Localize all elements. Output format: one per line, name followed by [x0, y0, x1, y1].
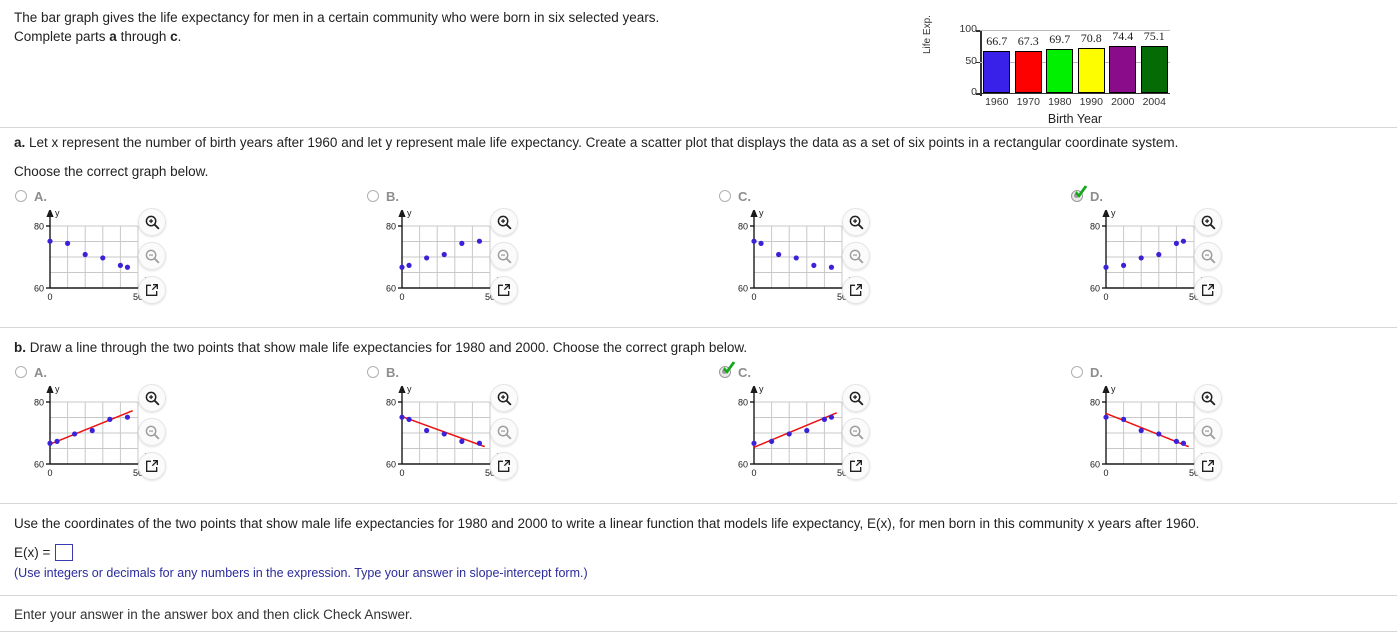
intro-text: The bar graph gives the life expectancy …: [14, 8, 894, 46]
bar-chart-x-tick: 1980: [1044, 96, 1076, 108]
expand-button[interactable]: [490, 276, 518, 304]
bar-chart-bars: 66.767.369.770.874.475.1: [981, 30, 1170, 93]
bar-chart-x-tick: 2004: [1139, 96, 1171, 108]
expand-button[interactable]: [490, 452, 518, 480]
option-radio-button[interactable]: [15, 190, 27, 202]
bar-chart-bar: [1109, 46, 1136, 93]
svg-text:y: y: [55, 386, 60, 394]
bar-chart-value-label: 70.8: [1081, 31, 1102, 46]
svg-text:y: y: [1111, 210, 1116, 218]
zoom-in-icon: [496, 214, 513, 231]
option-letter-label: A.: [34, 365, 47, 380]
option-letter-label: C.: [738, 365, 751, 380]
zoom-in-icon: [1200, 390, 1217, 407]
bar-chart-x-tick-labels: 196019701980199020002004: [981, 96, 1170, 108]
option-letter-label: D.: [1090, 189, 1103, 204]
bar-chart-x-axis-title: Birth Year: [980, 112, 1170, 126]
answer-note: (Use integers or decimals for any number…: [14, 566, 588, 580]
bar-chart-y-tick: 0: [971, 86, 977, 98]
svg-text:80: 80: [386, 222, 396, 232]
part-c-prompt: Use the coordinates of the two points th…: [14, 515, 1374, 532]
expand-icon: [144, 282, 160, 298]
svg-text:y: y: [407, 210, 412, 218]
zoom-in-icon: [144, 214, 161, 231]
answer-row: E(x) =: [14, 544, 73, 561]
zoom-out-icon: [1200, 424, 1217, 441]
part-b-option-a[interactable]: A.6080050yx: [10, 364, 355, 494]
life-expectancy-bar-chart: Life Exp. 050100 66.767.369.770.874.475.…: [928, 18, 1188, 130]
divider-3: [0, 503, 1397, 504]
bar-chart-bar-column: 67.3: [1013, 30, 1045, 93]
option-letter-label: C.: [738, 189, 751, 204]
svg-text:0: 0: [47, 292, 52, 302]
svg-text:80: 80: [1090, 222, 1100, 232]
part-a-option-d[interactable]: D.6080050yx: [1066, 188, 1397, 318]
option-header[interactable]: A.: [15, 188, 47, 204]
divider-2: [0, 327, 1397, 328]
zoom-out-button[interactable]: [1194, 242, 1222, 270]
answer-input[interactable]: [55, 544, 73, 561]
zoom-in-button[interactable]: [1194, 384, 1222, 412]
svg-text:0: 0: [399, 468, 404, 478]
option-radio-button[interactable]: [1071, 190, 1083, 202]
zoom-out-icon: [144, 248, 161, 265]
bar-chart-x-tick: 1970: [1013, 96, 1045, 108]
part-a-option-c[interactable]: C.6080050yx: [714, 188, 1059, 318]
bar-chart-bar: [1078, 48, 1105, 93]
option-radio-button[interactable]: [15, 366, 27, 378]
zoom-in-button[interactable]: [1194, 208, 1222, 236]
svg-text:80: 80: [738, 222, 748, 232]
zoom-in-button[interactable]: [490, 384, 518, 412]
bar-chart-bar-column: 69.7: [1044, 30, 1076, 93]
expand-button[interactable]: [138, 452, 166, 480]
divider-5: [0, 631, 1397, 632]
bar-chart-bar: [1141, 46, 1168, 93]
bar-chart-y-tick: 50: [965, 55, 977, 67]
svg-text:y: y: [759, 210, 764, 218]
bar-chart-bar-column: 74.4: [1107, 30, 1139, 93]
zoom-in-icon: [144, 390, 161, 407]
expand-icon: [1200, 458, 1216, 474]
zoom-out-icon: [496, 248, 513, 265]
bar-chart-x-tick: 2000: [1107, 96, 1139, 108]
bar-chart-x-tick: 1960: [981, 96, 1013, 108]
svg-text:0: 0: [47, 468, 52, 478]
svg-text:y: y: [407, 386, 412, 394]
zoom-out-button[interactable]: [490, 242, 518, 270]
zoom-out-icon: [848, 248, 865, 265]
zoom-in-button[interactable]: [490, 208, 518, 236]
bar-chart-bar-column: 70.8: [1076, 30, 1108, 93]
bar-chart-value-label: 69.7: [1049, 32, 1070, 47]
svg-text:60: 60: [386, 284, 396, 294]
svg-text:0: 0: [751, 292, 756, 302]
option-letter-label: D.: [1090, 365, 1103, 380]
expand-icon: [496, 458, 512, 474]
footer-instruction: Enter your answer in the answer box and …: [14, 607, 412, 622]
divider-1: [0, 127, 1397, 128]
zoom-out-icon: [1200, 248, 1217, 265]
bar-chart-tick-mark: [976, 30, 980, 32]
part-a-option-a[interactable]: A.6080050yx: [10, 188, 355, 318]
part-b-option-d[interactable]: D.6080050yx: [1066, 364, 1397, 494]
zoom-out-button[interactable]: [842, 418, 870, 446]
intro-line-1: The bar graph gives the life expectancy …: [14, 8, 894, 27]
svg-text:60: 60: [34, 460, 44, 470]
svg-text:60: 60: [34, 284, 44, 294]
expand-icon: [1200, 282, 1216, 298]
graph-tool-buttons: [138, 384, 178, 486]
expand-icon: [496, 282, 512, 298]
svg-text:80: 80: [738, 398, 748, 408]
svg-text:y: y: [1111, 386, 1116, 394]
part-b-prompt: b. Draw a line through the two points th…: [14, 339, 1354, 356]
svg-text:60: 60: [386, 460, 396, 470]
svg-text:60: 60: [1090, 284, 1100, 294]
svg-text:60: 60: [738, 460, 748, 470]
option-radio-button[interactable]: [367, 366, 379, 378]
option-header[interactable]: B.: [367, 364, 399, 380]
intro-line-2: Complete parts a through c.: [14, 27, 894, 46]
bar-chart-value-label: 74.4: [1112, 29, 1133, 44]
graph-tool-buttons: [490, 384, 530, 486]
zoom-out-icon: [144, 424, 161, 441]
zoom-in-icon: [1200, 214, 1217, 231]
exercise-page: The bar graph gives the life expectancy …: [0, 0, 1397, 636]
zoom-in-button[interactable]: [138, 384, 166, 412]
option-header[interactable]: B.: [367, 188, 399, 204]
bar-chart-bar: [1046, 49, 1073, 93]
part-b-option-c[interactable]: C.6080050yx: [714, 364, 1059, 494]
option-radio-button[interactable]: [1071, 366, 1083, 378]
zoom-out-button[interactable]: [842, 242, 870, 270]
part-b-option-b[interactable]: B.6080050yx: [362, 364, 707, 494]
option-letter-label: B.: [386, 365, 399, 380]
zoom-in-button[interactable]: [842, 384, 870, 412]
expand-icon: [144, 458, 160, 474]
zoom-in-button[interactable]: [842, 208, 870, 236]
graph-tool-buttons: [842, 384, 882, 486]
option-header[interactable]: D.: [1071, 188, 1103, 204]
svg-text:y: y: [55, 210, 60, 218]
option-radio-button[interactable]: [367, 190, 379, 202]
divider-4: [0, 595, 1397, 596]
bar-chart-bar: [1015, 51, 1042, 93]
svg-text:0: 0: [751, 468, 756, 478]
bar-chart-y-tick: 100: [959, 23, 977, 35]
zoom-out-icon: [496, 424, 513, 441]
zoom-in-button[interactable]: [138, 208, 166, 236]
answer-label: E(x) =: [14, 545, 50, 560]
bar-chart-x-tick: 1990: [1076, 96, 1108, 108]
expand-button[interactable]: [1194, 452, 1222, 480]
part-a-option-b[interactable]: B.6080050yx: [362, 188, 707, 318]
bar-chart-gridline: [980, 93, 1170, 94]
bar-chart-bar: [983, 51, 1010, 93]
zoom-out-icon: [848, 424, 865, 441]
expand-button[interactable]: [138, 276, 166, 304]
option-radio-button[interactable]: [719, 366, 731, 378]
svg-text:80: 80: [34, 222, 44, 232]
option-letter-label: B.: [386, 189, 399, 204]
bar-chart-value-label: 66.7: [986, 34, 1007, 49]
bar-chart-bar-column: 75.1: [1139, 30, 1171, 93]
bar-chart-value-label: 67.3: [1018, 34, 1039, 49]
expand-button[interactable]: [842, 452, 870, 480]
graph-tool-buttons: [138, 208, 178, 310]
option-header[interactable]: D.: [1071, 364, 1103, 380]
part-a-choose-label: Choose the correct graph below.: [14, 163, 208, 180]
bar-chart-tick-mark: [976, 93, 980, 95]
option-letter-label: A.: [34, 189, 47, 204]
svg-text:80: 80: [34, 398, 44, 408]
svg-text:0: 0: [1103, 468, 1108, 478]
zoom-out-button[interactable]: [138, 242, 166, 270]
zoom-out-button[interactable]: [490, 418, 518, 446]
expand-icon: [848, 282, 864, 298]
part-a-prompt: a. Let x represent the number of birth y…: [14, 134, 1354, 151]
bar-chart-value-label: 75.1: [1144, 29, 1165, 44]
zoom-out-button[interactable]: [138, 418, 166, 446]
option-header[interactable]: C.: [719, 364, 751, 380]
svg-text:80: 80: [1090, 398, 1100, 408]
svg-text:60: 60: [1090, 460, 1100, 470]
graph-tool-buttons: [1194, 208, 1234, 310]
expand-button[interactable]: [1194, 276, 1222, 304]
svg-text:60: 60: [738, 284, 748, 294]
graph-tool-buttons: [490, 208, 530, 310]
bar-chart-tick-mark: [976, 62, 980, 64]
bar-chart-y-axis-label: Life Exp.: [922, 15, 933, 54]
svg-text:0: 0: [399, 292, 404, 302]
zoom-in-icon: [496, 390, 513, 407]
bar-chart-bar-column: 66.7: [981, 30, 1013, 93]
svg-text:0: 0: [1103, 292, 1108, 302]
zoom-in-icon: [848, 214, 865, 231]
zoom-in-icon: [848, 390, 865, 407]
expand-button[interactable]: [842, 276, 870, 304]
svg-text:80: 80: [386, 398, 396, 408]
graph-tool-buttons: [842, 208, 882, 310]
option-header[interactable]: A.: [15, 364, 47, 380]
svg-text:y: y: [759, 386, 764, 394]
option-radio-button[interactable]: [719, 190, 731, 202]
expand-icon: [848, 458, 864, 474]
graph-tool-buttons: [1194, 384, 1234, 486]
zoom-out-button[interactable]: [1194, 418, 1222, 446]
option-header[interactable]: C.: [719, 188, 751, 204]
